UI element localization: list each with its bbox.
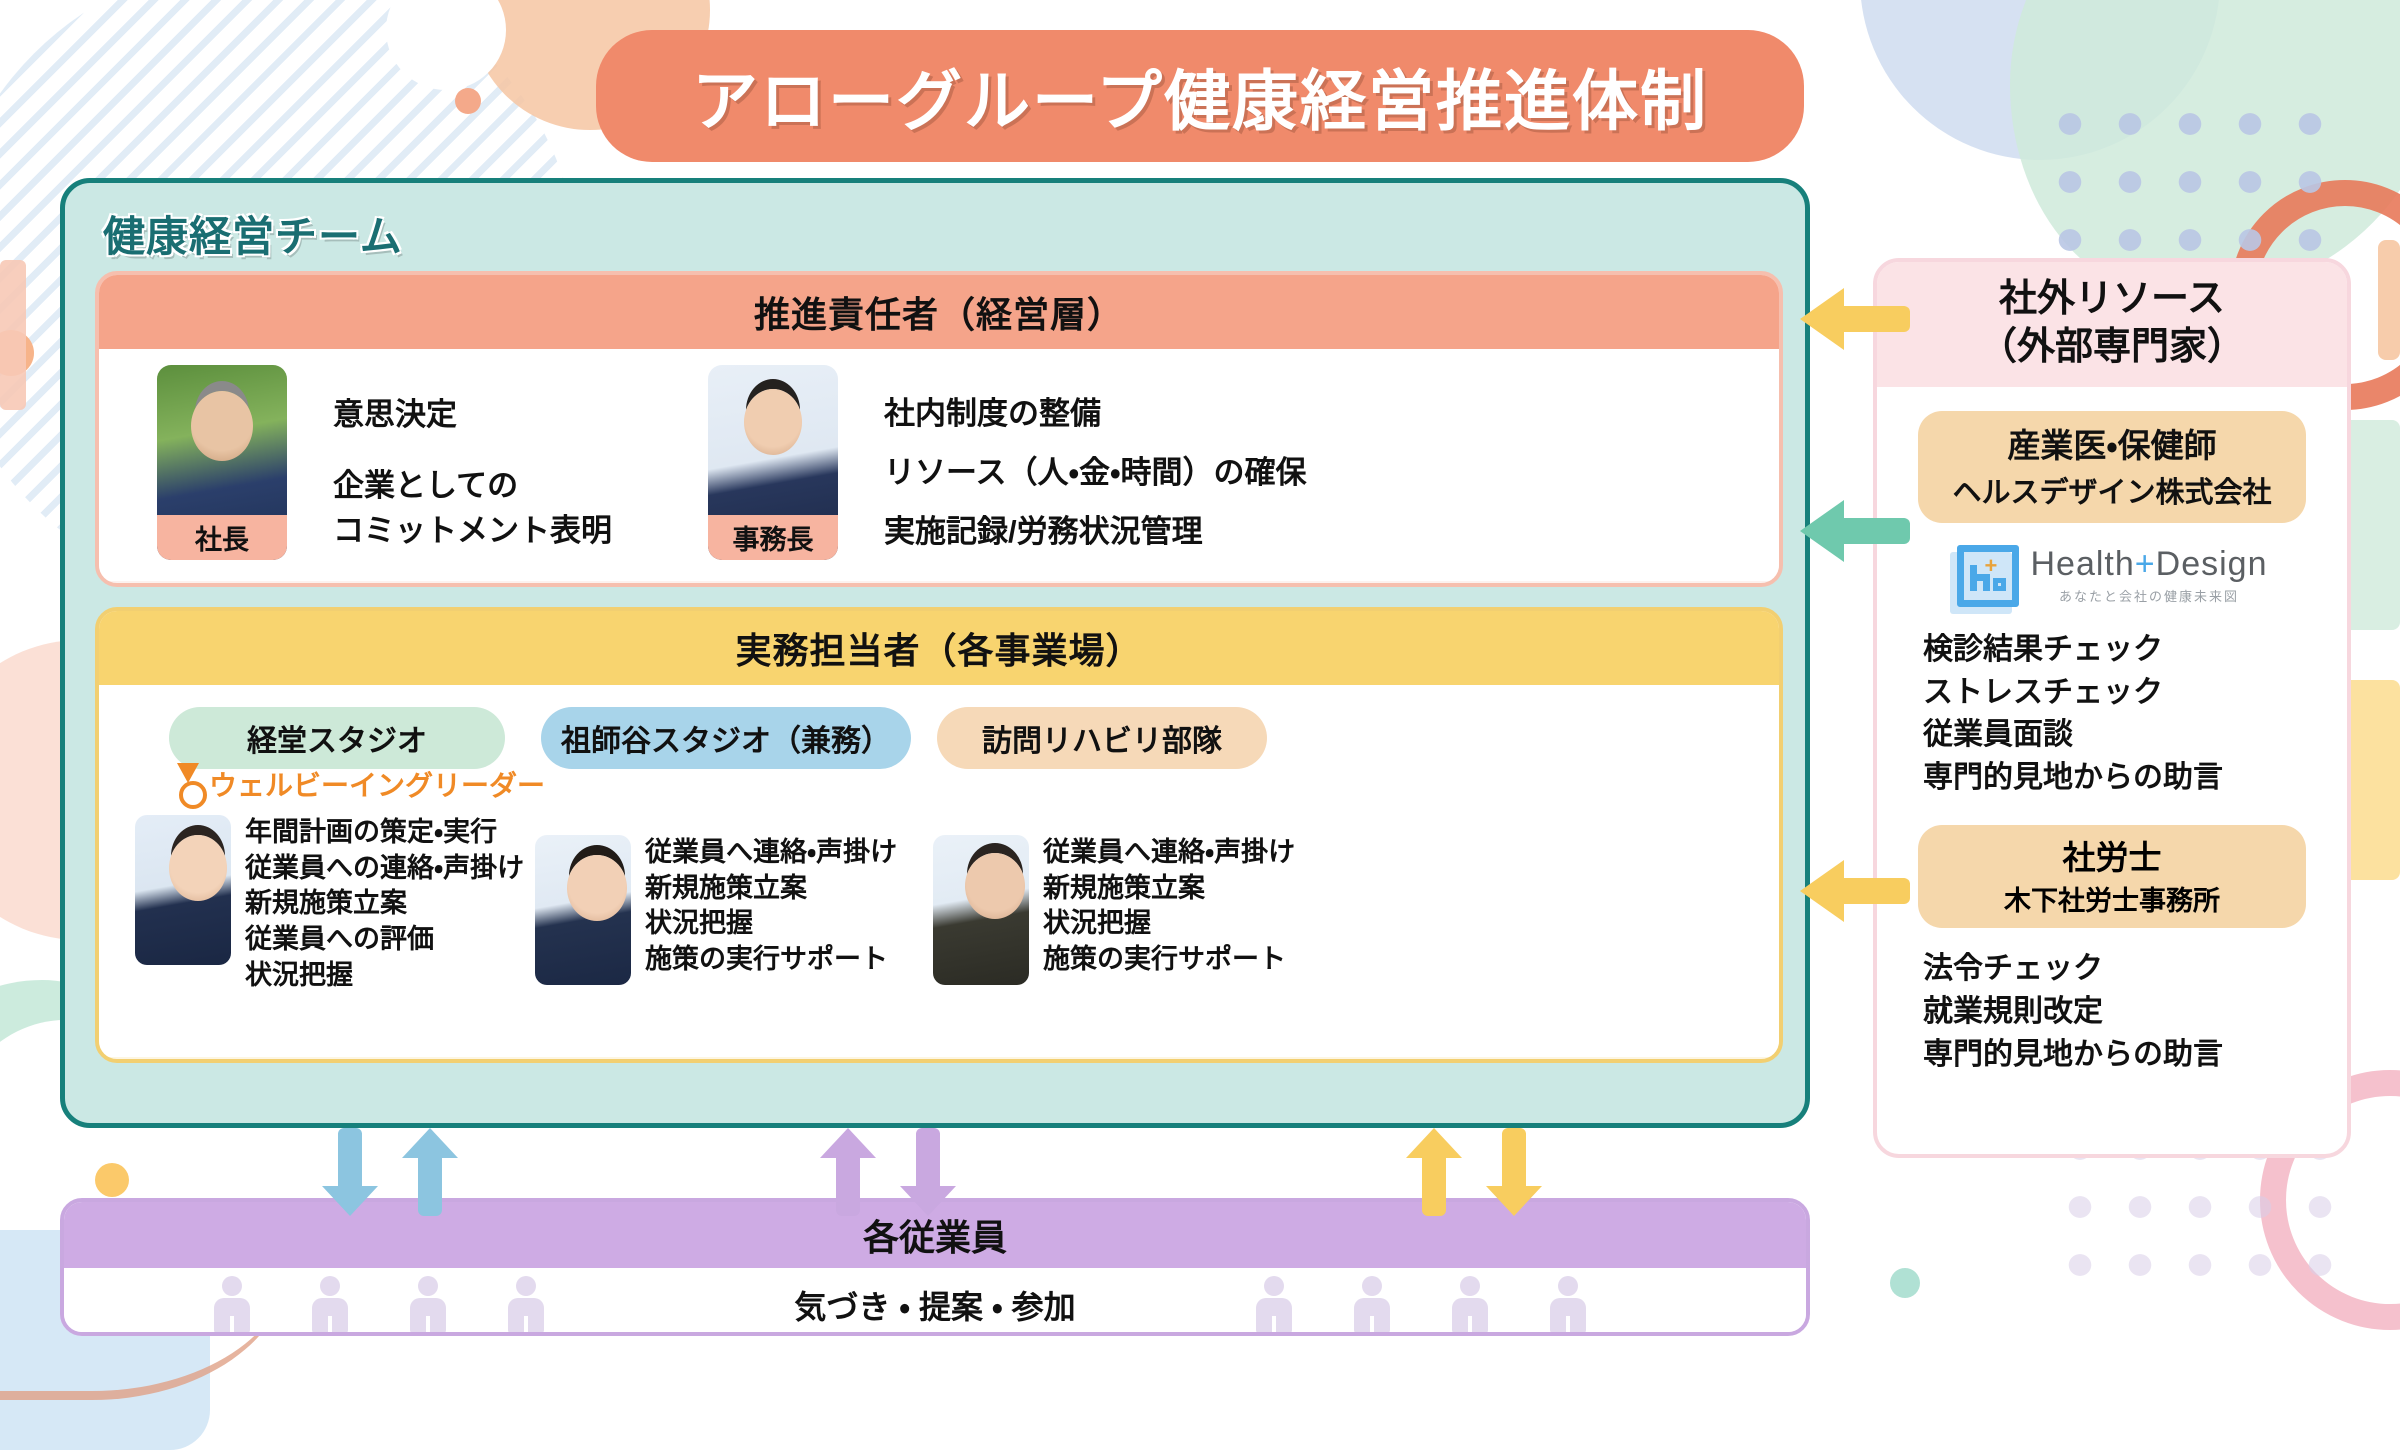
labor-service-1: 就業規則改定	[1923, 991, 2347, 1034]
staff1-task-0: 年間計画の策定・実行	[245, 815, 524, 851]
staff2-task-2: 状況把握	[645, 906, 897, 942]
staff-card-heading: 実務担当者（各事業場）	[99, 611, 1779, 685]
gm-duty-0: 社内制度の整備	[884, 385, 1307, 444]
wellbeing-leader-label: ウェルビーイングリーダー	[209, 764, 545, 804]
site-pill-soshigaya: 祖師谷スタジオ（兼務）	[541, 707, 911, 769]
external-resources-panel: 社外リソース （外部専門家） 産業医・保健師 ヘルスデザイン株式会社 + Hea…	[1873, 258, 2351, 1158]
medal-icon	[173, 763, 205, 805]
arrow-up-purple	[820, 1128, 876, 1216]
health-design-mark-icon: +	[1957, 545, 2019, 607]
president-duty-0: 意思決定	[333, 393, 612, 438]
staff-card-body: 経堂スタジオ 祖師谷スタジオ（兼務） 訪問リハビリ部隊 ウェルビーイングリーダー…	[99, 685, 1779, 1057]
executive-card: 推進責任者（経営層） 社長 意思決定 企業としての コミットメント表明 事務長 …	[95, 271, 1783, 587]
site-pill-kyodo: 経堂スタジオ	[169, 707, 505, 769]
employees-body: 気づき ・ 提案 ・ 参加	[64, 1268, 1806, 1336]
arrow-down-yellow	[1486, 1128, 1542, 1216]
labor-service-2: 専門的見地からの助言	[1923, 1034, 2347, 1077]
health-design-name: Health+Design	[2031, 547, 2268, 581]
wellbeing-leader-badge: ウェルビーイングリーダー	[173, 763, 545, 805]
staff-tasks-1: 年間計画の策定・実行 従業員への連絡・声掛け 新規施策立案 従業員への評価 状況…	[245, 815, 524, 993]
occ-service-1: ストレスチェック	[1923, 672, 2347, 715]
gm-duty-1: リソース（人・金・時間）の確保	[884, 444, 1307, 503]
staff-photo-2	[535, 835, 631, 985]
staff3-task-1: 新規施策立案	[1043, 871, 1295, 907]
staff1-task-1: 従業員への連絡・声掛け	[245, 851, 524, 887]
staff3-task-0: 従業員へ連絡・声掛け	[1043, 835, 1295, 871]
staff-card: 実務担当者（各事業場） 経堂スタジオ 祖師谷スタジオ（兼務） 訪問リハビリ部隊 …	[95, 607, 1783, 1063]
decor-bar-pink-left	[0, 260, 26, 410]
staff-photo-3	[933, 835, 1029, 985]
decor-dot-teal-bottom	[1890, 1268, 1920, 1298]
employees-panel: 各従業員 気づき ・ 提案 ・ 参加	[60, 1198, 1810, 1336]
arrow-left-yellow-bottom	[1800, 860, 1910, 922]
staff2-task-3: 施策の実行サポート	[645, 942, 897, 978]
occ-service-2: 従業員面談	[1923, 714, 2347, 757]
arrow-down-blue	[322, 1128, 378, 1216]
employees-caption: 気づき ・ 提案 ・ 参加	[64, 1282, 1806, 1328]
staff-entry-3: 従業員へ連絡・声掛け 新規施策立案 状況把握 施策の実行サポート	[933, 835, 1295, 985]
staff3-task-2: 状況把握	[1043, 906, 1295, 942]
executive-card-heading: 推進責任者（経営層）	[99, 275, 1779, 349]
occ-service-3: 専門的見地からの助言	[1923, 757, 2347, 800]
arrow-up-blue	[402, 1128, 458, 1216]
arrow-up-yellow	[1406, 1128, 1462, 1216]
staff1-task-4: 状況把握	[245, 958, 524, 994]
general-manager-photo: 事務長	[708, 365, 838, 560]
executive-person-president: 社長 意思決定 企業としての コミットメント表明	[157, 365, 612, 580]
staff-entry-1: 年間計画の策定・実行 従業員への連絡・声掛け 新規施策立案 従業員への評価 状況…	[135, 815, 524, 993]
decor-bar-peach-right	[2378, 240, 2400, 360]
health-design-wordmark: Health+Design あなたと会社の健康未来図	[2031, 547, 2268, 605]
staff3-task-3: 施策の実行サポート	[1043, 942, 1295, 978]
health-design-tagline: あなたと会社の健康未来図	[2031, 586, 2268, 605]
arrow-left-teal-middle	[1800, 500, 1910, 562]
occ-service-0: 検診結果チェック	[1923, 629, 2347, 672]
staff-photo-1	[135, 815, 231, 965]
logo-text-plus: +	[2135, 545, 2156, 583]
arrow-down-purple	[900, 1128, 956, 1216]
arrow-left-yellow-top	[1800, 288, 1910, 350]
staff-entry-2: 従業員へ連絡・声掛け 新規施策立案 状況把握 施策の実行サポート	[535, 835, 897, 985]
general-manager-name-tag: 事務長	[708, 515, 838, 560]
gm-duty-2: 実施記録/労務状況管理	[884, 503, 1307, 562]
site-pill-homerehab: 訪問リハビリ部隊	[937, 707, 1267, 769]
staff2-task-0: 従業員へ連絡・声掛け	[645, 835, 897, 871]
executive-card-body: 社長 意思決定 企業としての コミットメント表明 事務長 社内制度の整備 リソー…	[99, 349, 1779, 581]
labor-org: 木下社労士事務所	[1918, 879, 2306, 918]
president-duty-1: 企業としての コミットメント表明	[333, 464, 612, 554]
labor-role: 社労士	[1918, 831, 2306, 879]
external-heading-line1: 社外リソース	[1877, 276, 2347, 324]
logo-text-health: Health	[2031, 545, 2135, 583]
president-name-tag: 社長	[157, 515, 287, 560]
team-panel-label: 健康経営チーム	[103, 203, 403, 264]
general-manager-duties: 社内制度の整備 リソース（人・金・時間）の確保 実施記録/労務状況管理	[884, 385, 1307, 562]
labor-service-0: 法令チェック	[1923, 948, 2347, 991]
decor-dot-orange-left	[0, 330, 34, 376]
decor-dot-yellow-bottom	[95, 1163, 129, 1197]
staff1-task-3: 従業員への評価	[245, 922, 524, 958]
occupational-role: 産業医・保健師	[1918, 419, 2306, 467]
health-design-logo: + Health+Design あなたと会社の健康未来図	[1877, 545, 2347, 607]
staff-tasks-3: 従業員へ連絡・声掛け 新規施策立案 状況把握 施策の実行サポート	[1043, 835, 1295, 978]
staff-tasks-2: 従業員へ連絡・声掛け 新規施策立案 状況把握 施策の実行サポート	[645, 835, 897, 978]
occupational-services: 検診結果チェック ストレスチェック 従業員面談 専門的見地からの助言	[1923, 629, 2347, 799]
occupational-physician-pill: 産業医・保健師 ヘルスデザイン株式会社	[1918, 411, 2306, 523]
external-heading-line2: （外部専門家）	[1877, 324, 2347, 372]
executive-person-gm: 事務長 社内制度の整備 リソース（人・金・時間）の確保 実施記録/労務状況管理	[708, 365, 1307, 562]
page-title: アローグループ健康経営推進体制	[596, 30, 1804, 162]
president-photo: 社長	[157, 365, 287, 560]
external-resources-heading: 社外リソース （外部専門家）	[1877, 262, 2347, 387]
logo-text-design: Design	[2156, 545, 2268, 583]
staff2-task-1: 新規施策立案	[645, 871, 897, 907]
health-management-team-panel: 健康経営チーム 推進責任者（経営層） 社長 意思決定 企業としての コミットメン…	[60, 178, 1810, 1128]
labor-consultant-pill: 社労士 木下社労士事務所	[1918, 825, 2306, 928]
staff1-task-2: 新規施策立案	[245, 886, 524, 922]
page-title-wrap: アローグループ健康経営推進体制	[0, 30, 2400, 162]
president-duties: 意思決定 企業としての コミットメント表明	[333, 393, 612, 580]
labor-services: 法令チェック 就業規則改定 専門的見地からの助言	[1923, 948, 2347, 1076]
occupational-org: ヘルスデザイン株式会社	[1918, 469, 2306, 511]
